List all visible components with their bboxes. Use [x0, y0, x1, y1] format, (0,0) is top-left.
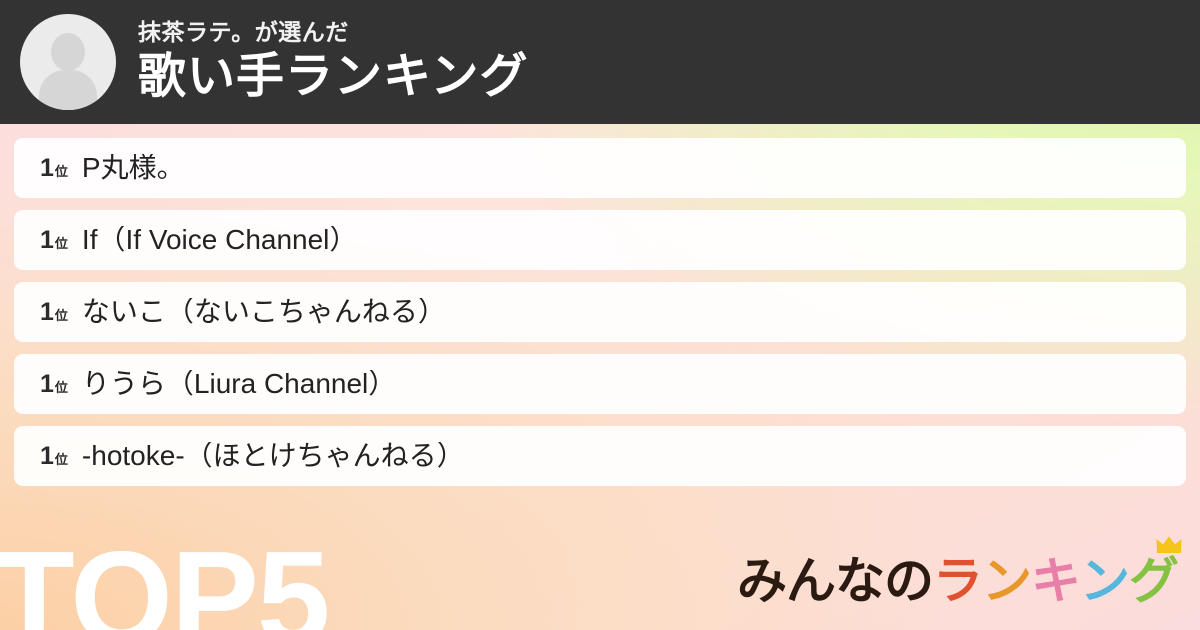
rank-unit: 位: [55, 309, 68, 322]
list-item[interactable]: 1 位 If（If Voice Channel）: [14, 210, 1186, 270]
brand-part-ra: ラ: [933, 556, 982, 606]
rank-unit: 位: [55, 237, 68, 250]
rank-badge: 1 位: [40, 444, 68, 469]
list-item[interactable]: 1 位 -hotoke-（ほとけちゃんねる）: [14, 426, 1186, 486]
rank-badge: 1 位: [40, 228, 68, 253]
page-title: 歌い手ランキング: [138, 50, 529, 104]
rank-badge: 1 位: [40, 300, 68, 325]
list-item[interactable]: 1 位 りうら（Liura Channel）: [14, 354, 1186, 414]
brand-part-ki: キ: [1031, 556, 1080, 606]
brand-part-n2: ン: [1080, 556, 1129, 606]
entry-name: P丸様。: [82, 154, 185, 182]
avatar-body-shape: [39, 70, 97, 110]
rank-number: 1: [40, 156, 54, 181]
entry-name: If（If Voice Channel）: [82, 226, 357, 254]
brand-part-minna: みんなの: [737, 556, 933, 606]
rank-unit: 位: [55, 165, 68, 178]
crown-icon: [1156, 536, 1182, 554]
list-item[interactable]: 1 位 P丸様。: [14, 138, 1186, 198]
person-avatar-icon: [20, 14, 116, 110]
rank-number: 1: [40, 300, 54, 325]
poster-subtitle: 抹茶ラテ。が選んだ: [138, 20, 529, 45]
poster-header: 抹茶ラテ。が選んだ 歌い手ランキング: [0, 0, 1200, 124]
entry-name: ないこ（ないこちゃんねる）: [82, 298, 446, 326]
rank-unit: 位: [55, 381, 68, 394]
rank-badge: 1 位: [40, 156, 68, 181]
rank-number: 1: [40, 372, 54, 397]
ranking-list: 1 位 P丸様。 1 位 If（If Voice Channel） 1 位 ない…: [0, 124, 1200, 486]
rank-unit: 位: [55, 453, 68, 466]
entry-name: -hotoke-（ほとけちゃんねる）: [82, 442, 465, 470]
header-text-block: 抹茶ラテ。が選んだ 歌い手ランキング: [138, 20, 529, 103]
entry-name: りうら（Liura Channel）: [82, 370, 396, 398]
top-count-label: TOP5: [0, 532, 328, 630]
list-item[interactable]: 1 位 ないこ（ないこちゃんねる）: [14, 282, 1186, 342]
rank-badge: 1 位: [40, 372, 68, 397]
brand-logo: みんなの ラ ン キ ン グ: [737, 556, 1178, 606]
rank-number: 1: [40, 228, 54, 253]
poster-footer: TOP5 みんなの ラ ン キ ン グ: [0, 498, 1200, 630]
brand-part-gu: グ: [1129, 556, 1178, 606]
rank-number: 1: [40, 444, 54, 469]
ranking-poster: 抹茶ラテ。が選んだ 歌い手ランキング 1 位 P丸様。 1 位 If（If Vo…: [0, 0, 1200, 630]
avatar-head-shape: [51, 33, 85, 71]
brand-part-n1: ン: [982, 556, 1031, 606]
